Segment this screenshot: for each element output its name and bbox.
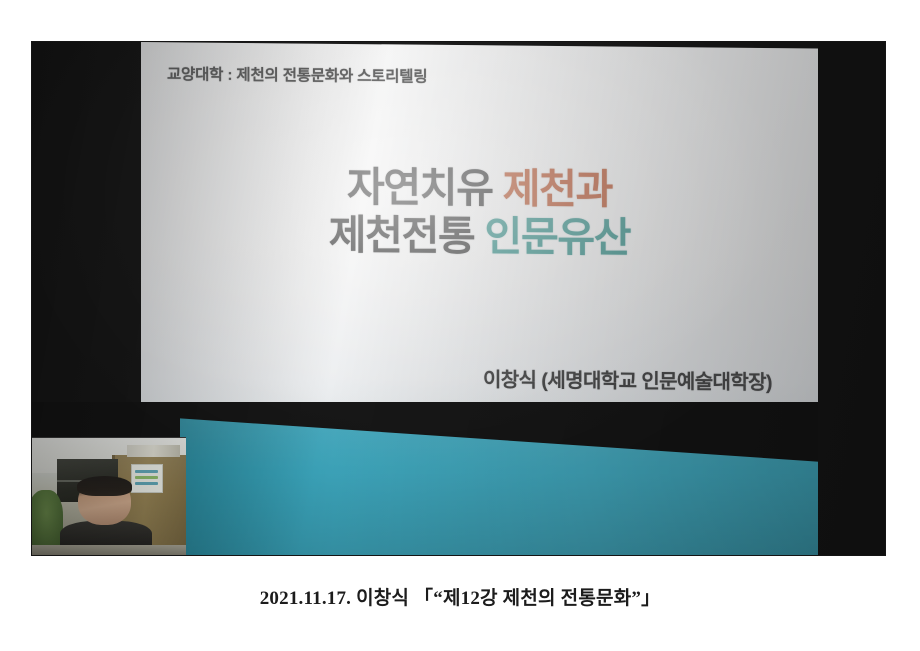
photo-caption: 2021.11.17. 이창식 「“제12강 제천의 전통문화”」 [0,583,920,610]
webcam-wall-note [131,464,164,493]
webcam-desk-edge [32,545,186,555]
webcam-note-line-3 [135,482,158,485]
slide-presenter-text: 이창식 (세명대학교 인문예술대학장) [483,363,772,395]
slide-title: 자연치유 제천과 제천전통 인문유산 [141,162,818,264]
presenter-webcam-inset [32,437,186,555]
slide-title-line-1: 자연치유 제천과 [141,162,818,216]
slide-header-text: 교양대학 : 제천의 전통문화와 스토리텔링 [167,62,427,86]
webcam-person-hair [77,476,132,496]
webcam-note-line-1 [135,470,158,473]
slide-title-line-1-accent: 제천과 [503,165,612,212]
projected-slide: 교양대학 : 제천의 전통문화와 스토리텔링 자연치유 제천과 제천전통 인문유… [141,42,818,428]
slide-title-line-2-accent: 인문유산 [485,213,631,260]
webcam-cabinet-top-items [127,445,179,457]
right-dark-strip [818,42,885,555]
webcam-note-line-2 [135,476,158,479]
slide-title-line-2: 제천전통 인문유산 [141,210,818,264]
slide-title-line-1-dark: 자연치유 [347,164,503,211]
slide-title-line-2-dark: 제천전통 [329,211,485,258]
lecture-slide-photograph: 교양대학 : 제천의 전통문화와 스토리텔링 자연치유 제천과 제천전통 인문유… [32,42,885,555]
